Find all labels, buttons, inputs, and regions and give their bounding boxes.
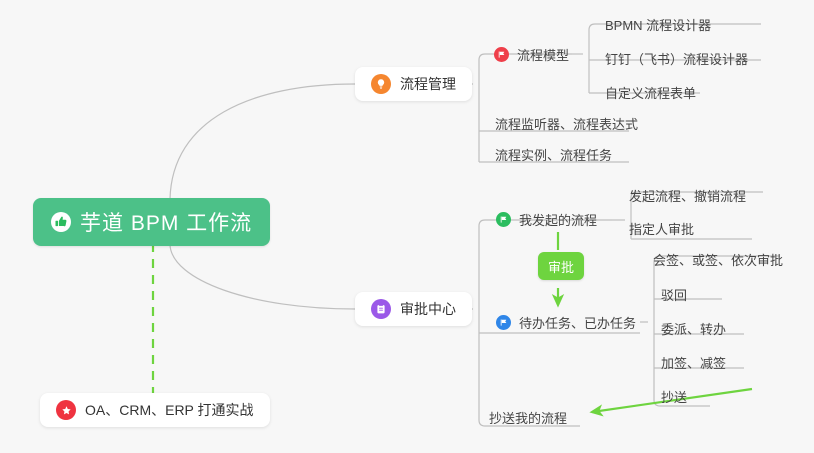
node-my-started-process[interactable]: 我发起的流程: [492, 206, 601, 232]
node-label-countersign: 会签、或签、依次审批: [653, 250, 783, 269]
node-label-custom-form: 自定义流程表单: [605, 83, 696, 102]
node-custom-form[interactable]: 自定义流程表单: [601, 79, 700, 105]
branch-node-approval-center[interactable]: 审批中心: [355, 292, 472, 326]
lightbulb-icon: [371, 74, 391, 94]
flag-icon: [494, 47, 509, 62]
bottom-note-label: OA、CRM、ERP 打通实战: [85, 400, 254, 420]
node-reject[interactable]: 驳回: [657, 281, 691, 307]
node-label-process-listener: 流程监听器、流程表达式: [495, 114, 638, 133]
node-cc-to-me-process[interactable]: 抄送我的流程: [485, 404, 571, 430]
node-label-process-model: 流程模型: [517, 45, 569, 64]
node-label-start-cancel-process: 发起流程、撤销流程: [629, 186, 746, 205]
branch-label-approval-center: 审批中心: [400, 299, 456, 319]
node-delegate-transfer[interactable]: 委派、转办: [657, 315, 730, 341]
node-label-my-started-process: 我发起的流程: [519, 210, 597, 229]
link-root-to-approval-center: [170, 245, 355, 309]
node-label-process-instance: 流程实例、流程任务: [495, 145, 612, 164]
node-label-cc: 抄送: [661, 387, 687, 406]
node-dingtalk-designer[interactable]: 钉钉（飞书）流程设计器: [601, 45, 752, 71]
node-countersign[interactable]: 会签、或签、依次审批: [649, 246, 787, 272]
node-process-instance[interactable]: 流程实例、流程任务: [491, 141, 616, 167]
node-label-cc-to-me-process: 抄送我的流程: [489, 408, 567, 427]
node-bpmn-designer[interactable]: BPMN 流程设计器: [601, 11, 715, 37]
node-add-remove-sign[interactable]: 加签、减签: [657, 349, 730, 375]
node-process-listener[interactable]: 流程监听器、流程表达式: [491, 110, 642, 136]
flag-icon: [496, 212, 511, 227]
approval-badge[interactable]: 审批: [538, 252, 584, 280]
node-start-cancel-process[interactable]: 发起流程、撤销流程: [625, 182, 750, 208]
root-node[interactable]: 芋道 BPM 工作流: [33, 198, 270, 246]
star-icon: [56, 400, 76, 420]
bottom-note-node[interactable]: OA、CRM、ERP 打通实战: [40, 393, 270, 427]
node-cc[interactable]: 抄送: [657, 383, 691, 409]
root-label: 芋道 BPM 工作流: [80, 207, 252, 237]
branch-label-process-management: 流程管理: [400, 74, 456, 94]
node-label-add-remove-sign: 加签、减签: [661, 353, 726, 372]
node-label-assignee-approval: 指定人审批: [629, 219, 694, 238]
clipboard-icon: [371, 299, 391, 319]
node-process-model[interactable]: 流程模型: [490, 41, 573, 67]
flag-icon: [496, 315, 511, 330]
node-label-dingtalk-designer: 钉钉（飞书）流程设计器: [605, 49, 748, 68]
node-label-bpmn-designer: BPMN 流程设计器: [605, 15, 711, 34]
approval-badge-label: 审批: [548, 257, 574, 276]
node-label-reject: 驳回: [661, 285, 687, 304]
link-root-to-process-management: [170, 84, 355, 199]
node-label-todo-done-tasks: 待办任务、已办任务: [519, 313, 636, 332]
node-label-delegate-transfer: 委派、转办: [661, 319, 726, 338]
node-todo-done-tasks[interactable]: 待办任务、已办任务: [492, 309, 640, 335]
thumbs-up-icon: [51, 212, 71, 232]
node-assignee-approval[interactable]: 指定人审批: [625, 215, 698, 241]
mindmap-canvas: 芋道 BPM 工作流 流程管理 流程模型 BPMN 流程设计器 钉钉（飞书）流程…: [0, 0, 814, 453]
branch-node-process-management[interactable]: 流程管理: [355, 67, 472, 101]
